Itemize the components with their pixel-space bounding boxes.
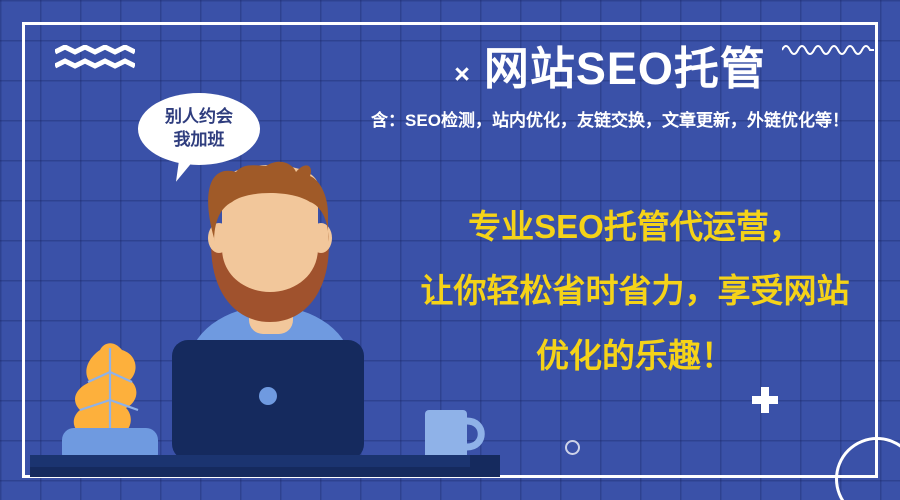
x-mark-icon: ×	[454, 61, 470, 88]
zigzag-wave-icon	[55, 45, 135, 73]
slogan-line-3: 优化的乐趣！	[400, 324, 870, 388]
slogan-block: 专业SEO托管代运营， 让你轻松省时省力，享受网站 优化的乐趣！	[400, 195, 870, 388]
small-circle-icon	[565, 440, 580, 455]
seo-hosting-banner: 别人约会 我加班 × 网站SEO托管 含：SEO检测，站内优化，友链交换，文章更…	[0, 0, 900, 500]
speech-bubble-line-2: 我加班	[174, 129, 225, 152]
title-row: × 网站SEO托管	[330, 44, 890, 94]
headline-block: × 网站SEO托管 含：SEO检测，站内优化，友链交换，文章更新，外链优化等！	[330, 44, 890, 131]
plus-icon	[752, 387, 778, 413]
speech-bubble: 别人约会 我加班	[138, 93, 260, 165]
slogan-line-2: 让你轻松省时省力，享受网站	[400, 259, 870, 323]
slogan-line-1: 专业SEO托管代运营，	[400, 195, 870, 259]
page-subtitle: 含：SEO检测，站内优化，友链交换，文章更新，外链优化等！	[330, 106, 890, 131]
page-title: 网站SEO托管	[484, 44, 766, 94]
speech-bubble-line-1: 别人约会	[165, 106, 233, 129]
